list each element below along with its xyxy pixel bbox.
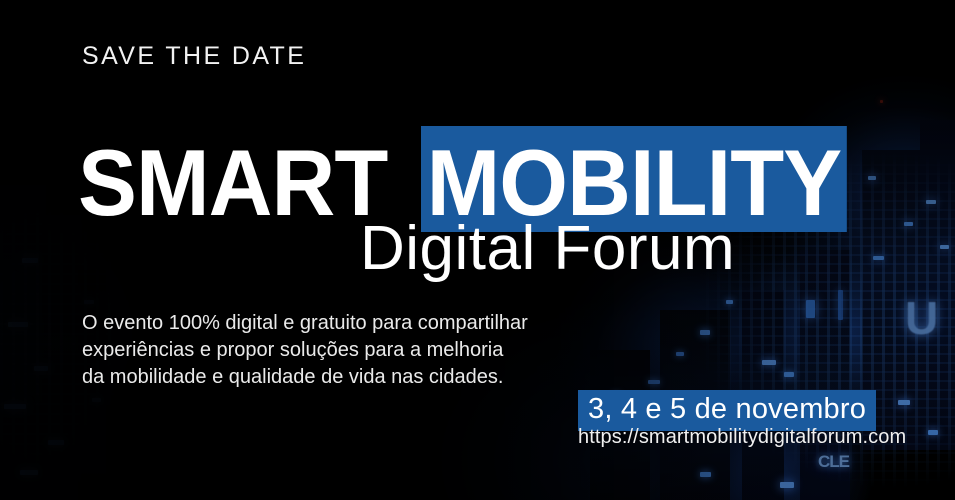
event-description: O evento 100% digital e gratuito para co…	[82, 310, 528, 391]
poster-content: SAVE THE DATE SMART MOBILITY Digital For…	[0, 0, 955, 500]
save-the-date-kicker: SAVE THE DATE	[82, 42, 306, 71]
title-word-smart: SMART	[78, 126, 387, 230]
event-subtitle: Digital Forum	[360, 218, 735, 280]
event-website-url[interactable]: https://smartmobilitydigitalforum.com	[578, 424, 906, 450]
description-line: O evento 100% digital e gratuito para co…	[82, 310, 528, 337]
description-line: experiências e propor soluções para a me…	[82, 337, 528, 364]
description-line: da mobilidade e qualidade de vida nas ci…	[82, 364, 528, 391]
event-poster: U CLE SAVE THE DATE SMART MOBILITY Digit…	[0, 0, 955, 500]
